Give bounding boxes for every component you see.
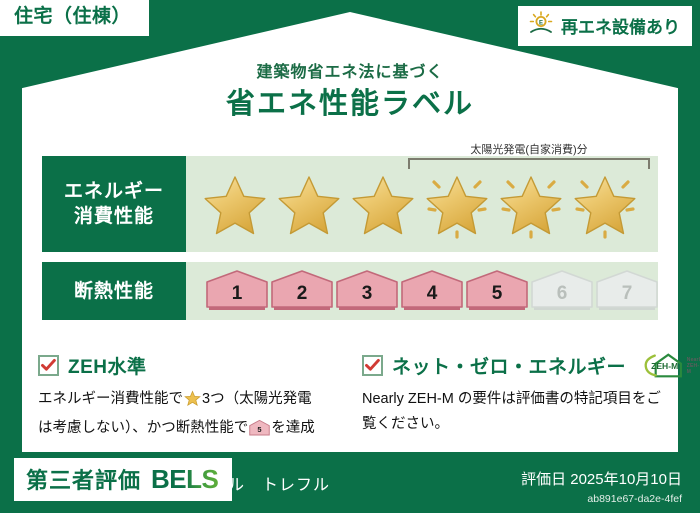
building-type-badge: 住宅（住棟） xyxy=(0,0,149,36)
star-icon xyxy=(496,169,566,239)
bels-logo: BELS xyxy=(151,464,218,495)
energy-performance-label: 住宅（住棟） E 再エネ設備あり 建築物省エネ法に基づく 省エネ性能ラベル xyxy=(0,0,700,513)
insulation-level-value: 4 xyxy=(401,270,463,312)
zeh-heading: ZEH水準 xyxy=(68,352,147,379)
star-icon xyxy=(348,169,418,239)
insulation-level-value: 5 xyxy=(466,270,528,312)
star-icon xyxy=(570,169,640,239)
solar-bracket xyxy=(408,158,650,169)
insulation-level: 5 xyxy=(466,270,528,312)
insulation-rating-area: 1234567 xyxy=(186,262,658,320)
company-name: ル トレフル xyxy=(228,471,330,495)
zeh-checkbox[interactable] xyxy=(38,355,59,376)
zeh-text-b: 3つ（太陽光発電 xyxy=(202,391,312,407)
insulation-row: 断熱性能 1234567 xyxy=(42,262,658,320)
criteria-zeh-text: エネルギー消費性能で3つ（太陽光発電は考慮しない）、かつ断熱性能で5を達成 xyxy=(38,387,338,445)
insulation-level: 3 xyxy=(336,270,398,312)
building-type-label: 住宅（住棟） xyxy=(14,6,131,28)
criteria-net-zero: ネット・ゼロ・エネルギー ZEH-M Nearly ZEH-M Nearly Z… xyxy=(362,352,662,437)
insulation-level-value: 1 xyxy=(206,270,268,312)
star-rating xyxy=(200,169,640,239)
insulation-level-value: 6 xyxy=(531,270,593,312)
svg-text:E: E xyxy=(539,20,543,26)
net-zero-checkbox[interactable] xyxy=(362,355,383,376)
insulation-level-value: 7 xyxy=(596,270,658,312)
insulation-level: 6 xyxy=(531,270,593,312)
star-icon xyxy=(422,169,492,239)
insulation-label: 断熱性能 xyxy=(42,262,186,320)
insulation-house-icon: 5 xyxy=(249,419,270,445)
evaluation-id: ab891e67-da2e-4fef xyxy=(587,493,682,505)
footer: 第三者評価 BELS ル トレフル 評価日 2025年10月10日 ab891e… xyxy=(0,457,700,513)
zeh-m-sub-line2: ZEH-M xyxy=(687,363,699,375)
insulation-level-value: 3 xyxy=(336,270,398,312)
net-zero-heading: ネット・ゼロ・エネルギー xyxy=(392,352,626,379)
label-title: 省エネ性能ラベル xyxy=(0,80,700,122)
zeh-text-d: を達成 xyxy=(271,420,315,436)
label-subtitle: 建築物省エネ法に基づく xyxy=(0,58,700,82)
zeh-m-logo-sub: Nearly ZEH-M xyxy=(687,357,700,379)
evaluation-date: 評価日 2025年10月10日 xyxy=(521,468,682,489)
criteria-net-zero-header: ネット・ゼロ・エネルギー ZEH-M Nearly ZEH-M xyxy=(362,352,662,379)
star-icon xyxy=(200,169,270,239)
insulation-level: 2 xyxy=(271,270,333,312)
svg-text:ZEH-M: ZEH-M xyxy=(651,361,678,371)
star-icon xyxy=(274,169,344,239)
solar-annotation-label: 太陽光発電(自家消費)分 xyxy=(398,144,660,157)
energy-consumption-row: エネルギー 消費性能 xyxy=(42,156,658,252)
renewable-equipment-badge: E 再エネ設備あり xyxy=(518,6,692,46)
zeh-text-c: は考慮しない）、かつ断熱性能で xyxy=(38,420,248,436)
insulation-level: 1 xyxy=(206,270,268,312)
svg-text:5: 5 xyxy=(258,425,262,434)
criteria-zeh: ZEH水準 エネルギー消費性能で3つ（太陽光発電は考慮しない）、かつ断熱性能で5… xyxy=(38,352,338,445)
insulation-level-value: 2 xyxy=(271,270,333,312)
insulation-level: 4 xyxy=(401,270,463,312)
renewable-equipment-label: 再エネ設備あり xyxy=(561,13,680,38)
criteria-net-zero-text: Nearly ZEH-M の要件は評価書の特記項目をご覧ください。 xyxy=(362,387,662,437)
insulation-level: 7 xyxy=(596,270,658,312)
star-icon xyxy=(184,390,201,416)
bels-badge: 第三者評価 BELS xyxy=(14,458,232,501)
solar-annotation: 太陽光発電(自家消費)分 xyxy=(398,144,660,169)
sun-icon: E xyxy=(528,11,554,40)
insulation-label-text: 断熱性能 xyxy=(74,279,154,304)
insulation-levels: 1234567 xyxy=(206,270,658,312)
zeh-m-logo: ZEH-M Nearly ZEH-M xyxy=(641,352,700,379)
energy-rating-area xyxy=(186,156,658,252)
energy-consumption-label: エネルギー 消費性能 xyxy=(42,156,186,252)
third-party-label: 第三者評価 xyxy=(26,463,141,495)
zeh-text-a: エネルギー消費性能で xyxy=(38,391,183,407)
criteria-zeh-header: ZEH水準 xyxy=(38,352,338,379)
energy-label-line2: 消費性能 xyxy=(74,204,154,229)
energy-label-line1: エネルギー xyxy=(64,179,164,204)
